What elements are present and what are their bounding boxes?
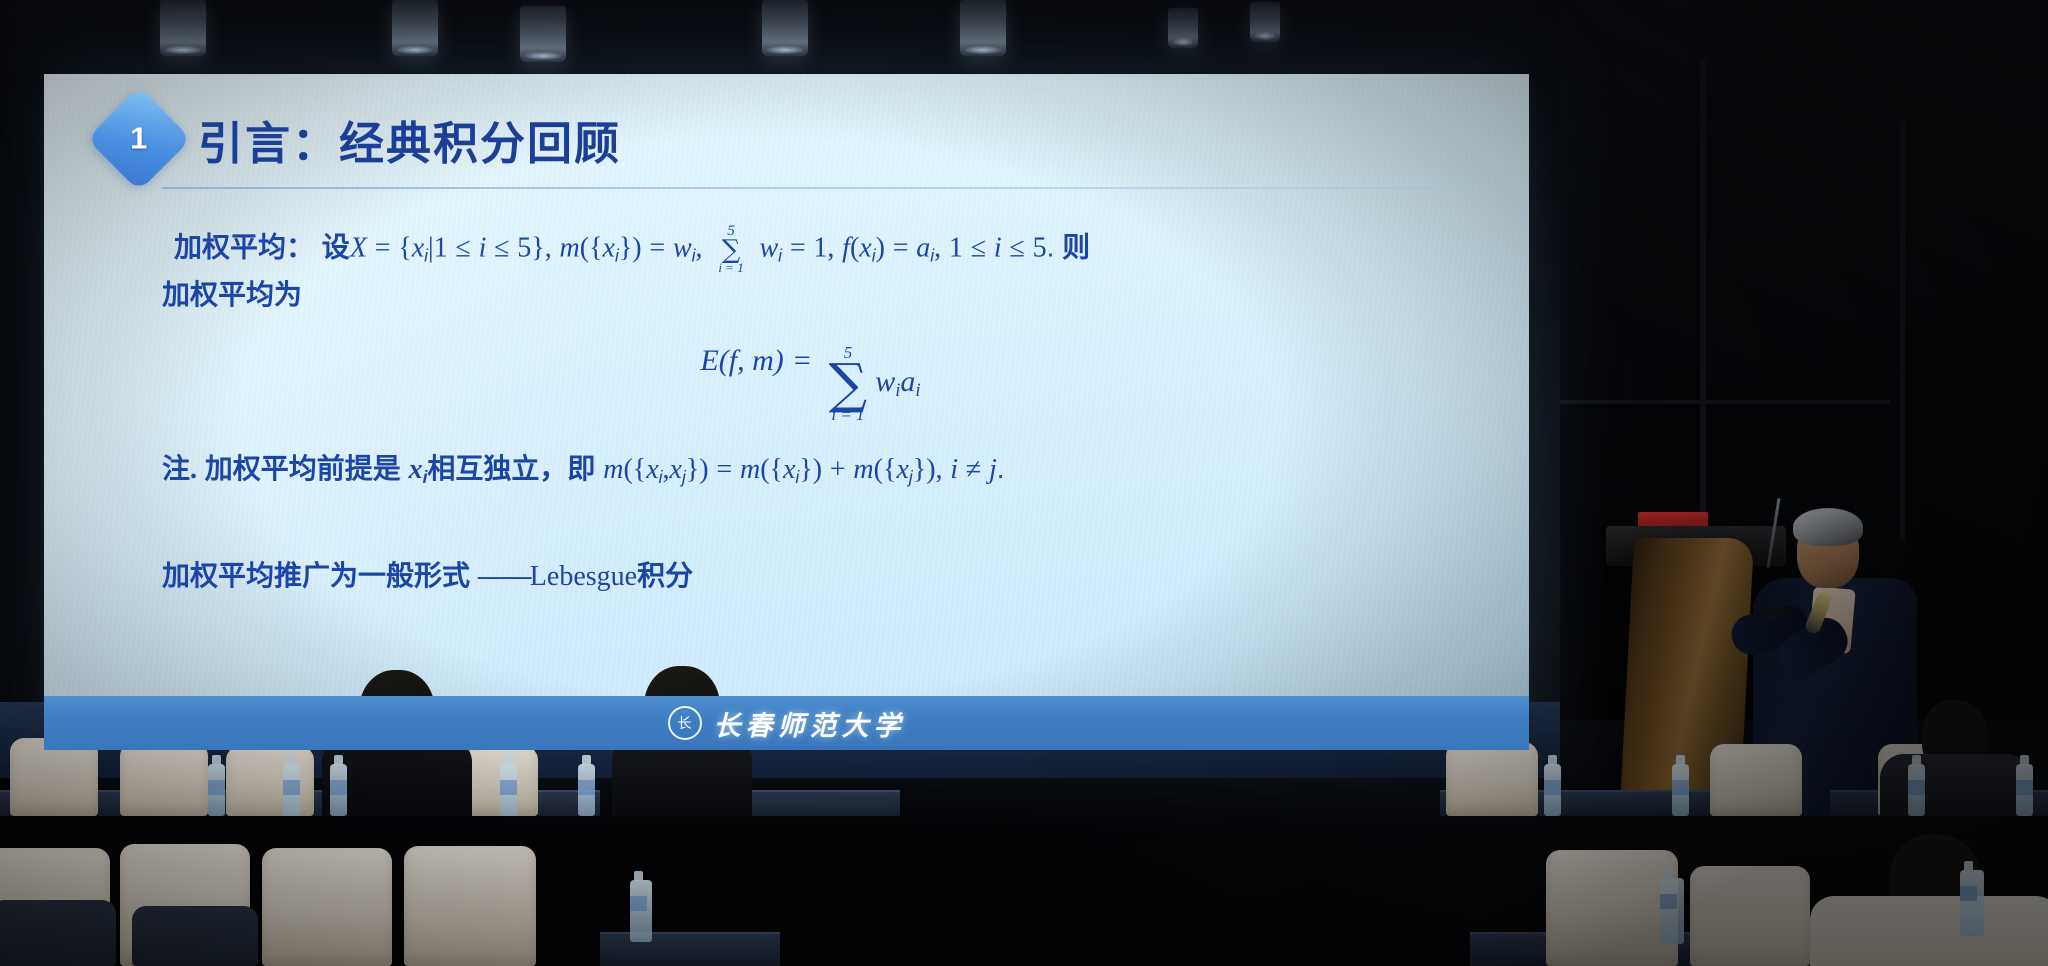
token-le: ≤ <box>455 232 470 263</box>
equation-summand: wiai <box>875 365 920 402</box>
definition-label: 加权平均： <box>174 232 314 263</box>
token-x: x <box>783 454 795 485</box>
token-le: ≤ <box>1009 232 1024 263</box>
token-comma: , <box>827 232 834 263</box>
note-line: 注. 加权平均前提是 xi相互独立，即 m({xi,xj}) = m({xi})… <box>162 447 1459 488</box>
note-text-1: 加权平均前提是 <box>205 454 401 485</box>
token-sub-i: i <box>915 380 920 401</box>
title-divider <box>162 187 1492 189</box>
slide-title-row: 1 引言：经典积分回顾 <box>102 102 621 176</box>
token-then: 则 <box>1062 232 1090 263</box>
token-le: ≤ <box>494 232 509 263</box>
stage-light <box>392 0 438 56</box>
display-equation: E(f, m) = 5 ∑ i = 1 wiai <box>162 344 1459 423</box>
token-paren-open: ( <box>623 454 632 485</box>
token-brace-open: { <box>883 454 896 485</box>
token-paren-open: ( <box>580 232 589 263</box>
audience-chair <box>404 846 536 966</box>
stage-light <box>520 6 566 62</box>
university-logo-text: 长 <box>678 713 692 733</box>
closing-cjk-first: 加权平均推广为一般形式 <box>162 561 470 592</box>
stage-light <box>160 0 206 56</box>
person-torso <box>1810 896 2048 966</box>
token-eq: = <box>893 232 909 263</box>
definition-line-1: 加权平均： 设X = {xi|1 ≤ i ≤ 5}, m({xi}) = wi,… <box>174 224 1459 274</box>
token-comma: , <box>934 232 941 263</box>
inline-sum: 5 ∑ i = 1 <box>718 224 743 274</box>
token-eq: = <box>716 454 732 485</box>
stage-light <box>1168 8 1198 48</box>
sum-sigma: ∑ <box>722 239 741 261</box>
audience-chair <box>1546 850 1678 966</box>
token-brace-open: { <box>589 232 602 263</box>
university-logo-icon: 长 <box>668 706 702 740</box>
token-f: f <box>842 232 850 263</box>
slide-title: 引言：经典积分回顾 <box>198 107 621 172</box>
note-text-2: 相互独立，即 <box>427 454 595 485</box>
token-x: x <box>646 454 658 485</box>
token-m: m <box>853 454 873 485</box>
token-five: 5 <box>517 232 531 263</box>
token-comma: , <box>545 232 552 263</box>
sum-lower-limit: i = 1 <box>831 406 864 423</box>
water-bottle <box>630 880 652 942</box>
token-i: i <box>950 454 958 485</box>
token-brace-open: { <box>633 454 646 485</box>
token-m: m <box>603 454 623 485</box>
token-eq: = <box>649 232 665 263</box>
definition-line-2: 加权平均为 <box>162 276 1459 316</box>
token-a: a <box>900 365 915 398</box>
sum-lower: i = 1 <box>718 261 743 274</box>
token-ne: ≠ <box>966 454 981 485</box>
token-i: i <box>994 232 1002 263</box>
section-number: 1 <box>130 121 147 157</box>
token-plus: + <box>830 454 846 485</box>
slide-footer: 长 长春师范大学 <box>44 696 1529 750</box>
token-paren-close: ) <box>876 232 885 263</box>
light-rig-pole <box>1900 120 1905 540</box>
token-a: a <box>916 232 930 263</box>
token-paren-open: ( <box>760 454 769 485</box>
equation-lhs: E(f, m) <box>700 344 783 423</box>
token-eq: = <box>375 232 391 263</box>
token-eq: = <box>790 232 806 263</box>
token-w: w <box>759 232 778 263</box>
university-name: 长春师范大学 <box>714 704 906 743</box>
token-paren-open: ( <box>850 232 859 263</box>
stage-light <box>762 0 808 56</box>
token-one: 1 <box>813 232 827 263</box>
stage-light <box>960 0 1006 56</box>
audience-chair <box>262 848 392 966</box>
water-bottle <box>1960 870 1984 936</box>
token-x: x <box>896 454 908 485</box>
token-five: 5 <box>1033 232 1047 263</box>
closing-em-dash: —— <box>478 560 530 591</box>
token-paren-close: ) <box>926 454 935 485</box>
token-brace-close: } <box>799 454 812 485</box>
token-paren-close: ) <box>699 454 708 485</box>
equation-equals: = <box>794 344 811 423</box>
token-brace-close: } <box>619 232 632 263</box>
token-brace-close: } <box>686 454 699 485</box>
token-comma: , <box>696 232 703 263</box>
token-i: i <box>479 232 487 263</box>
token-brace-open: { <box>770 454 783 485</box>
token-m: m <box>560 232 580 263</box>
token-le: ≤ <box>971 232 986 263</box>
token-x: x <box>670 454 682 485</box>
token-sub-i: i <box>778 245 782 265</box>
audience-chair <box>0 900 116 966</box>
token-paren-close: ) <box>632 232 641 263</box>
token-one: 1 <box>949 232 963 263</box>
definition-set-prefix: 设 <box>322 232 350 263</box>
slide-body: 加权平均： 设X = {xi|1 ≤ i ≤ 5}, m({xi}) = wi,… <box>162 224 1459 594</box>
token-x: x <box>859 232 871 263</box>
token-X: X <box>350 232 367 263</box>
token-paren-close: ) <box>813 454 822 485</box>
lecture-hall-photo: 1 引言：经典积分回顾 加权平均： 设X = {xi|1 ≤ i ≤ 5}, m… <box>0 0 2048 966</box>
token-w: w <box>875 365 895 398</box>
audience-front-row <box>0 746 2048 966</box>
speaker-hair <box>1793 508 1863 546</box>
stage-light <box>1250 2 1280 42</box>
note-variable-x: x <box>409 454 423 485</box>
token-comma: , <box>663 454 670 485</box>
closing-cjk-last: 积分 <box>637 561 693 592</box>
projection-screen: 1 引言：经典积分回顾 加权平均： 设X = {xi|1 ≤ i ≤ 5}, m… <box>44 74 1529 750</box>
token-one: 1 <box>434 232 448 263</box>
note-label: 注. <box>162 454 197 485</box>
sigma-glyph: ∑ <box>829 362 868 405</box>
token-x: x <box>603 232 615 263</box>
token-w: w <box>673 232 692 263</box>
token-brace-open: { <box>398 232 411 263</box>
token-brace-close: } <box>531 232 544 263</box>
sum-operator: 5 ∑ i = 1 <box>829 344 868 423</box>
audience-desk <box>600 932 780 966</box>
token-brace-close: } <box>913 454 926 485</box>
closing-line: 加权平均推广为一般形式 ——Lebesgue积分 <box>162 554 1459 594</box>
closing-lebesgue-word: Lebesgue <box>530 561 637 592</box>
token-m: m <box>740 454 760 485</box>
token-x: x <box>412 232 424 263</box>
audience-chair <box>132 906 258 966</box>
section-number-badge: 1 <box>87 87 192 192</box>
light-rig-cross <box>1560 400 1890 404</box>
water-bottle <box>1660 878 1684 944</box>
token-j: j <box>989 454 997 485</box>
audience-chair <box>1690 866 1810 966</box>
audience-person <box>1810 834 2048 966</box>
token-paren-open: ( <box>874 454 883 485</box>
token-comma: , <box>936 454 943 485</box>
